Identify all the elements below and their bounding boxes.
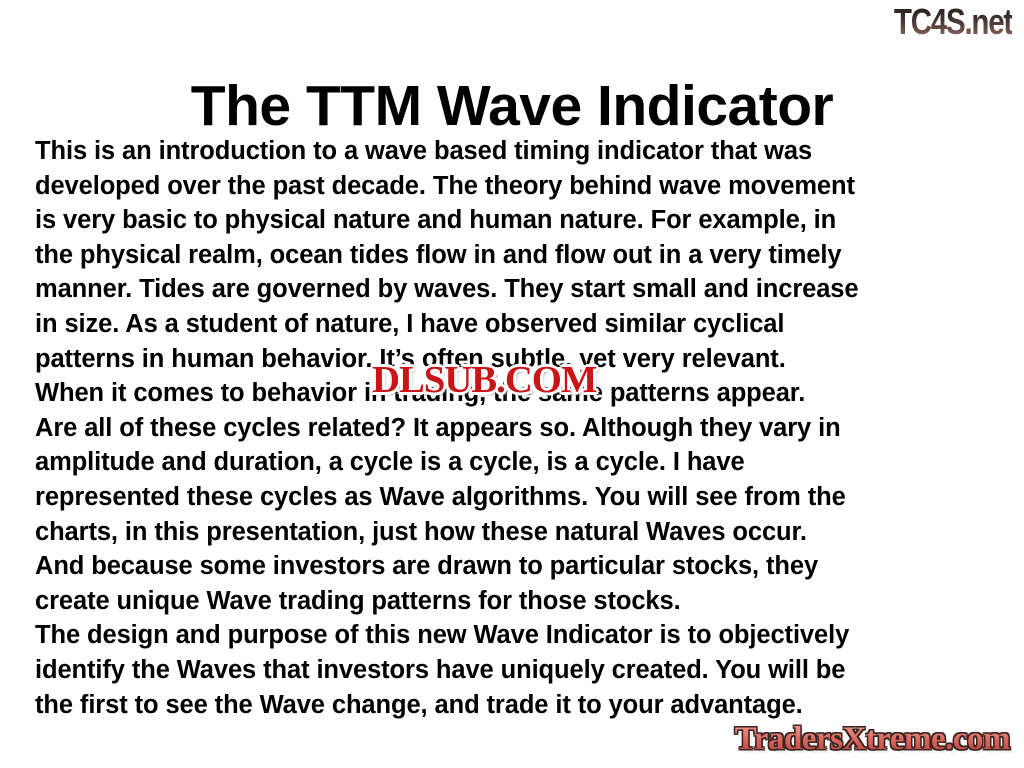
body-text-block: This is an introduction to a wave based … <box>35 134 1003 722</box>
presentation-slide: TC4S.net The TTM Wave Indicator This is … <box>0 0 1024 768</box>
body-line: developed over the past decade. The theo… <box>35 169 1003 204</box>
body-line: create unique Wave trading patterns for … <box>35 584 1003 619</box>
tc4s-brand-watermark: TC4S.net <box>894 4 1012 40</box>
body-line: And because some investors are drawn to … <box>35 549 1003 584</box>
body-line: is very basic to physical nature and hum… <box>35 203 1003 238</box>
body-line: the first to see the Wave change, and tr… <box>35 688 1003 723</box>
page-title: The TTM Wave Indicator <box>0 76 1024 136</box>
body-line: patterns in human behavior. It’s often s… <box>35 342 1003 377</box>
body-line: This is an introduction to a wave based … <box>35 134 1003 169</box>
body-line: represented these cycles as Wave algorit… <box>35 480 1003 515</box>
body-line: identify the Waves that investors have u… <box>35 653 1003 688</box>
body-line: charts, in this presentation, just how t… <box>35 515 1003 550</box>
tradersxtreme-logo: TradersXtreme.com TradersXtreme.com <box>735 723 1010 756</box>
tradersxtreme-logo-fill: TradersXtreme.com <box>735 721 1010 757</box>
body-line: When it comes to behavior in trading, th… <box>35 376 1003 411</box>
body-line: manner. Tides are governed by waves. The… <box>35 272 1003 307</box>
body-line: the physical realm, ocean tides flow in … <box>35 238 1003 273</box>
body-line: in size. As a student of nature, I have … <box>35 307 1003 342</box>
body-line: amplitude and duration, a cycle is a cyc… <box>35 445 1003 480</box>
body-line: The design and purpose of this new Wave … <box>35 618 1003 653</box>
body-line: Are all of these cycles related? It appe… <box>35 411 1003 446</box>
